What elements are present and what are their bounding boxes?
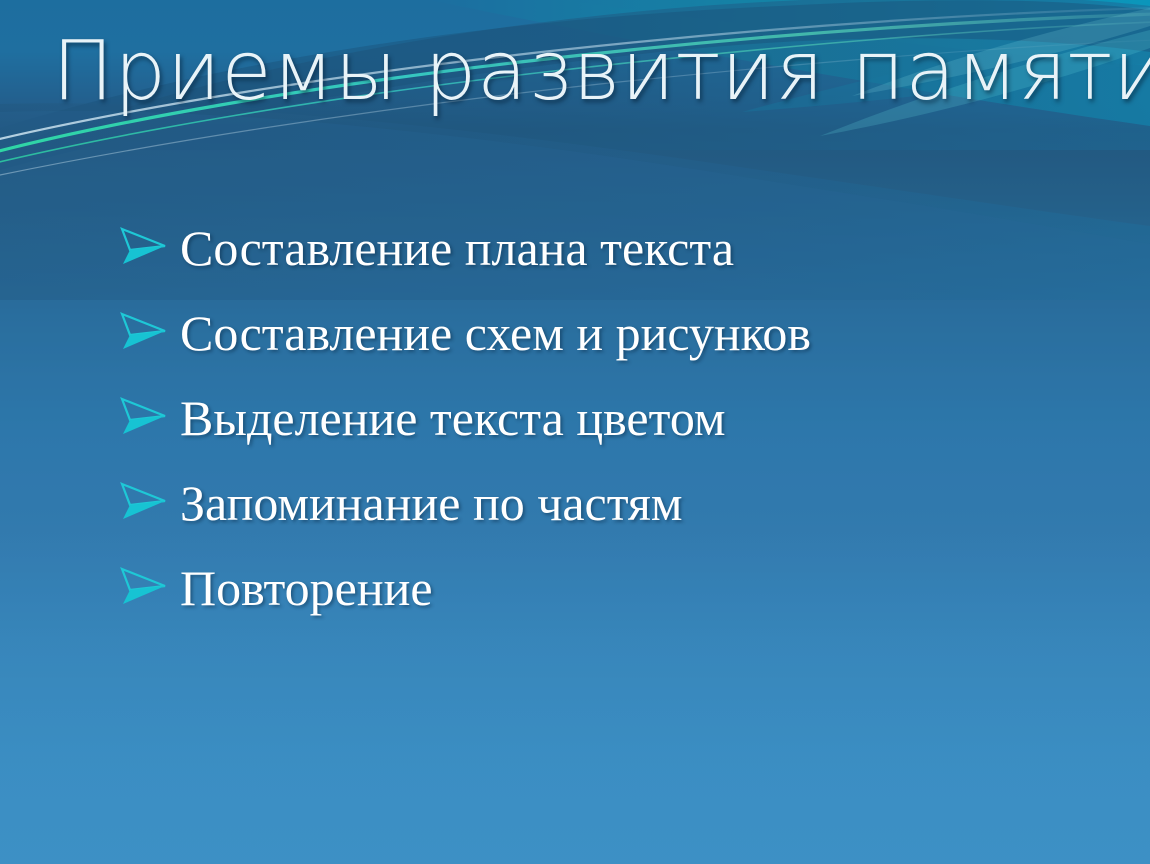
page-title: Приемы развития памяти <box>52 31 1150 113</box>
arrowhead-bullet-icon <box>118 393 170 439</box>
presentation-slide: Приемы развития памяти Составление плана… <box>0 0 1150 864</box>
arrowhead-bullet-icon <box>118 478 170 524</box>
list-item: Выделение текста цветом <box>118 375 1098 460</box>
list-item-label: Повторение <box>180 563 433 613</box>
list-item: Составление схем и рисунков <box>118 290 1098 375</box>
list-item-label: Запоминание по частям <box>180 478 683 528</box>
list-item-label: Составление плана текста <box>180 223 734 273</box>
list-item: Составление плана текста <box>118 205 1098 290</box>
slide-body-placeholder: Составление плана текста Составление схе… <box>118 205 1098 630</box>
slide-title-placeholder: Приемы развития памяти <box>52 16 1122 128</box>
list-item-label: Составление схем и рисунков <box>180 308 811 358</box>
list-item: Повторение <box>118 545 1098 630</box>
arrowhead-bullet-icon <box>118 563 170 609</box>
list-item: Запоминание по частям <box>118 460 1098 545</box>
arrowhead-bullet-icon <box>118 223 170 269</box>
arrowhead-bullet-icon <box>118 308 170 354</box>
list-item-label: Выделение текста цветом <box>180 393 726 443</box>
